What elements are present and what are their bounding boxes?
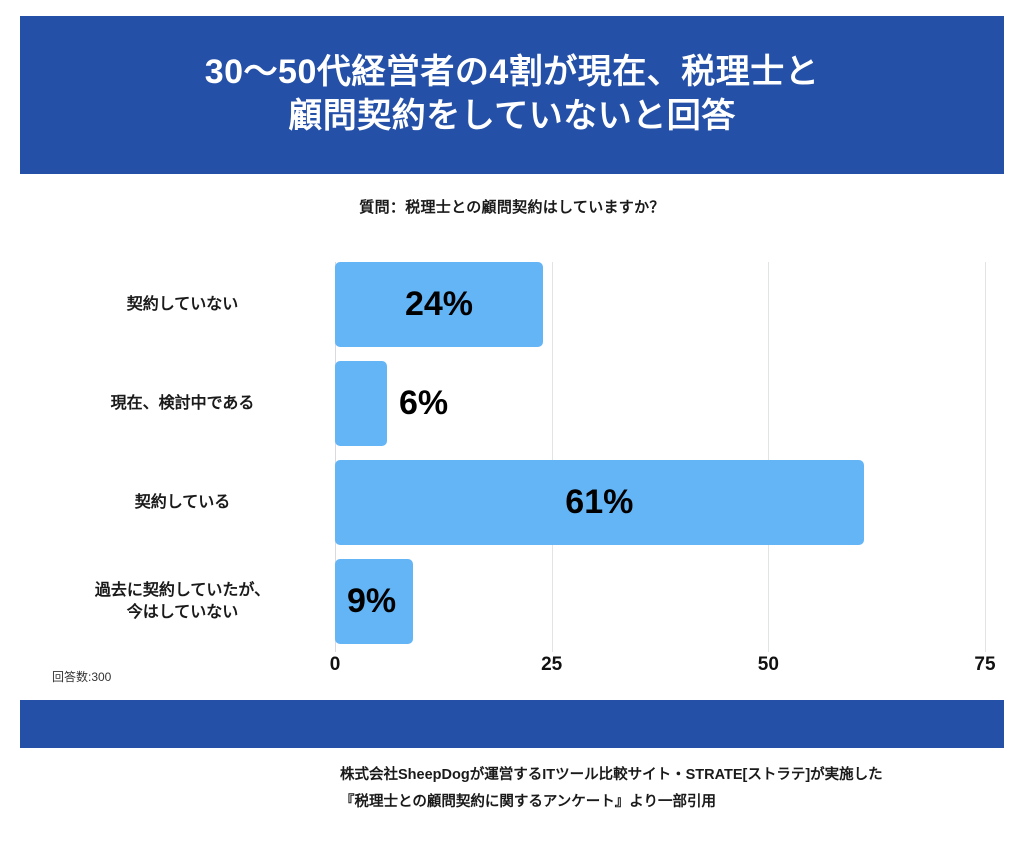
bar-row: 24% <box>335 262 985 347</box>
header-title-line-1: 30〜50代経営者の4割が現在、税理士と <box>205 51 820 95</box>
category-label-0-line-0: 契約していない <box>40 294 325 316</box>
credit-line-2: 『税理士との顧問契約に関するアンケート』より一部引用 <box>340 789 1020 816</box>
gridline-75 <box>985 262 986 652</box>
header-title-line-2: 顧問契約をしていないと回答 <box>288 95 735 139</box>
answer-count-note: 回答数:300 <box>52 668 111 685</box>
credit-note: 株式会社SheepDogが運営するITツール比較サイト・STRATE[ストラテ]… <box>340 762 1020 816</box>
bar-row: 61% <box>335 460 985 545</box>
category-label-3-line-1: 今はしていない <box>40 602 325 624</box>
x-tick-label-25: 25 <box>541 654 562 676</box>
x-axis-tick-labels: 0255075 <box>335 654 985 684</box>
bar-value-label-3: 9% <box>347 559 396 644</box>
chart-panel: 質問：税理士との顧問契約はしていますか？ 契約していない 現在、検討中である 契… <box>0 174 1024 694</box>
credit-line-1: 株式会社SheepDogが運営するITツール比較サイト・STRATE[ストラテ]… <box>340 762 1020 789</box>
category-label-3-line-0: 過去に契約していたが、 <box>40 580 325 602</box>
bar-row: 9% <box>335 559 985 644</box>
bar-value-label-0: 24% <box>335 262 543 347</box>
category-label-0: 契約していない <box>40 294 325 316</box>
bar-1[interactable] <box>335 361 387 446</box>
plot-area: 24%6%61%9% <box>335 262 985 652</box>
x-tick-label-50: 50 <box>758 654 779 676</box>
x-tick-label-0: 0 <box>330 654 341 676</box>
category-label-2: 契約している <box>40 492 325 514</box>
category-label-2-line-0: 契約している <box>40 492 325 514</box>
category-label-1-line-0: 現在、検討中である <box>40 393 325 415</box>
plot-wrapper: 契約していない 現在、検討中である 契約している 過去に契約していたが、今はして… <box>0 174 1024 694</box>
category-label-3: 過去に契約していたが、今はしていない <box>40 580 325 623</box>
header-banner: 30〜50代経営者の4割が現在、税理士と 顧問契約をしていないと回答 <box>20 16 1004 174</box>
bar-value-label-1: 6% <box>399 361 448 446</box>
footer-band <box>20 700 1004 748</box>
bar-value-label-2: 61% <box>335 460 864 545</box>
category-label-1: 現在、検討中である <box>40 393 325 415</box>
category-axis-labels: 契約していない 現在、検討中である 契約している 過去に契約していたが、今はして… <box>40 262 325 652</box>
bar-row: 6% <box>335 361 985 446</box>
x-tick-label-75: 75 <box>974 654 995 676</box>
